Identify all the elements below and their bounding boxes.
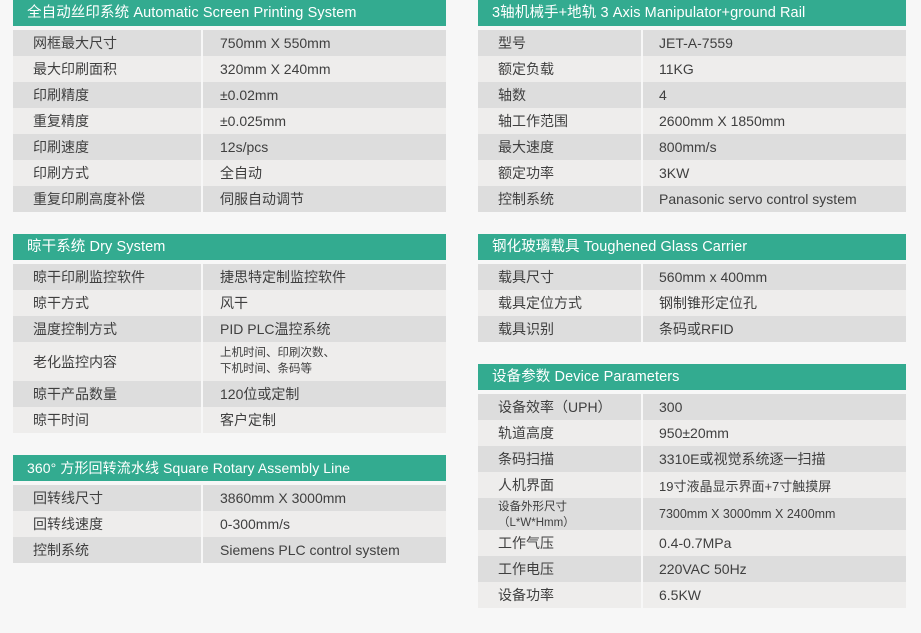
row-value: ±0.025mm bbox=[203, 108, 446, 134]
row-value: 120位或定制 bbox=[203, 381, 446, 407]
spec-table-dry-system: 晾干系统 Dry System 晾干印刷监控软件 捷思特定制监控软件 晾干方式 … bbox=[13, 234, 446, 433]
table-body: 载具尺寸 560mm x 400mm 载具定位方式 钢制锥形定位孔 载具识别 条… bbox=[478, 264, 906, 342]
table-row: 控制系统 Siemens PLC control system bbox=[13, 537, 446, 563]
row-value: 19寸液晶显示界面+7寸触摸屏 bbox=[643, 472, 906, 498]
row-value: 800mm/s bbox=[643, 134, 906, 160]
table-row: 条码扫描 3310E或视觉系统逐一扫描 bbox=[478, 446, 906, 472]
row-label: 控制系统 bbox=[13, 537, 203, 563]
table-row: 印刷速度 12s/pcs bbox=[13, 134, 446, 160]
row-label: 晾干方式 bbox=[13, 290, 203, 316]
row-label: 轴数 bbox=[478, 82, 643, 108]
row-label: 人机界面 bbox=[478, 472, 643, 498]
row-value: 3KW bbox=[643, 160, 906, 186]
row-label: 额定负载 bbox=[478, 56, 643, 82]
row-value: 风干 bbox=[203, 290, 446, 316]
row-label: 轴工作范围 bbox=[478, 108, 643, 134]
spec-table-screen-printing: 全自动丝印系统 Automatic Screen Printing System… bbox=[13, 0, 446, 212]
row-label: 最大印刷面积 bbox=[13, 56, 203, 82]
row-label: 晾干时间 bbox=[13, 407, 203, 433]
row-label: 晾干印刷监控软件 bbox=[13, 264, 203, 290]
table-body: 网框最大尺寸 750mm X 550mm 最大印刷面积 320mm X 240m… bbox=[13, 30, 446, 212]
row-value: ±0.02mm bbox=[203, 82, 446, 108]
row-label: 重复印刷高度补偿 bbox=[13, 186, 203, 212]
spec-table-manipulator: 3轴机械手+地轨 3 Axis Manipulator+ground Rail … bbox=[478, 0, 906, 212]
row-value: 钢制锥形定位孔 bbox=[643, 290, 906, 316]
row-label: 工作电压 bbox=[478, 556, 643, 582]
table-row: 老化监控内容 上机时间、印刷次数、 下机时间、条码等 bbox=[13, 342, 446, 381]
row-label: 轨道高度 bbox=[478, 420, 643, 446]
table-row: 晾干时间 客户定制 bbox=[13, 407, 446, 433]
table-row: 载具识别 条码或RFID bbox=[478, 316, 906, 342]
row-label: 载具识别 bbox=[478, 316, 643, 342]
row-value: 3310E或视觉系统逐一扫描 bbox=[643, 446, 906, 472]
left-column: 全自动丝印系统 Automatic Screen Printing System… bbox=[0, 0, 460, 633]
table-row: 重复精度 ±0.025mm bbox=[13, 108, 446, 134]
table-body: 型号 JET-A-7559 额定负载 11KG 轴数 4 轴工作范围 2600m… bbox=[478, 30, 906, 212]
table-row: 回转线尺寸 3860mm X 3000mm bbox=[13, 485, 446, 511]
row-value: 950±20mm bbox=[643, 420, 906, 446]
row-label: 载具定位方式 bbox=[478, 290, 643, 316]
table-row: 工作气压 0.4-0.7MPa bbox=[478, 530, 906, 556]
row-value: 3860mm X 3000mm bbox=[203, 485, 446, 511]
row-label: 温度控制方式 bbox=[13, 316, 203, 342]
row-label: 回转线速度 bbox=[13, 511, 203, 537]
table-row: 印刷方式 全自动 bbox=[13, 160, 446, 186]
table-row: 人机界面 19寸液晶显示界面+7寸触摸屏 bbox=[478, 472, 906, 498]
row-value: 0-300mm/s bbox=[203, 511, 446, 537]
table-header-title: 钢化玻璃载具 Toughened Glass Carrier bbox=[478, 234, 906, 260]
table-row: 载具尺寸 560mm x 400mm bbox=[478, 264, 906, 290]
row-value: Siemens PLC control system bbox=[203, 537, 446, 563]
table-row: 轨道高度 950±20mm bbox=[478, 420, 906, 446]
table-row: 最大印刷面积 320mm X 240mm bbox=[13, 56, 446, 82]
row-value: PID PLC温控系统 bbox=[203, 316, 446, 342]
table-header-title: 360° 方形回转流水线 Square Rotary Assembly Line bbox=[13, 455, 446, 481]
row-value: 560mm x 400mm bbox=[643, 264, 906, 290]
row-value: 0.4-0.7MPa bbox=[643, 530, 906, 556]
row-label: 网框最大尺寸 bbox=[13, 30, 203, 56]
table-row: 温度控制方式 PID PLC温控系统 bbox=[13, 316, 446, 342]
table-row: 型号 JET-A-7559 bbox=[478, 30, 906, 56]
row-label: 载具尺寸 bbox=[478, 264, 643, 290]
table-body: 回转线尺寸 3860mm X 3000mm 回转线速度 0-300mm/s 控制… bbox=[13, 485, 446, 563]
row-label: 设备外形尺寸（L*W*Hmm） bbox=[478, 498, 643, 530]
row-value: 750mm X 550mm bbox=[203, 30, 446, 56]
row-label: 设备功率 bbox=[478, 582, 643, 608]
spec-sheet-page: 全自动丝印系统 Automatic Screen Printing System… bbox=[0, 0, 921, 633]
row-label: 晾干产品数量 bbox=[13, 381, 203, 407]
table-row: 额定负载 11KG bbox=[478, 56, 906, 82]
table-row: 回转线速度 0-300mm/s bbox=[13, 511, 446, 537]
table-body: 晾干印刷监控软件 捷思特定制监控软件 晾干方式 风干 温度控制方式 PID PL… bbox=[13, 264, 446, 433]
table-row: 额定功率 3KW bbox=[478, 160, 906, 186]
row-label: 印刷方式 bbox=[13, 160, 203, 186]
row-label: 回转线尺寸 bbox=[13, 485, 203, 511]
row-label: 条码扫描 bbox=[478, 446, 643, 472]
row-value: 12s/pcs bbox=[203, 134, 446, 160]
table-row: 轴工作范围 2600mm X 1850mm bbox=[478, 108, 906, 134]
row-value: 220VAC 50Hz bbox=[643, 556, 906, 582]
row-value: 捷思特定制监控软件 bbox=[203, 264, 446, 290]
table-row: 载具定位方式 钢制锥形定位孔 bbox=[478, 290, 906, 316]
table-header-title: 3轴机械手+地轨 3 Axis Manipulator+ground Rail bbox=[478, 0, 906, 26]
row-value: 4 bbox=[643, 82, 906, 108]
row-value: 全自动 bbox=[203, 160, 446, 186]
table-row: 轴数 4 bbox=[478, 82, 906, 108]
table-row: 设备效率（UPH） 300 bbox=[478, 394, 906, 420]
table-header-title: 设备参数 Device Parameters bbox=[478, 364, 906, 390]
row-label: 设备效率（UPH） bbox=[478, 394, 643, 420]
table-row: 印刷精度 ±0.02mm bbox=[13, 82, 446, 108]
row-value: 7300mm X 3000mm X 2400mm bbox=[643, 498, 906, 530]
row-label: 型号 bbox=[478, 30, 643, 56]
row-label: 印刷精度 bbox=[13, 82, 203, 108]
table-row: 工作电压 220VAC 50Hz bbox=[478, 556, 906, 582]
row-label: 老化监控内容 bbox=[13, 342, 203, 381]
row-value-line-2: 下机时间、条码等 bbox=[220, 362, 440, 378]
row-value: JET-A-7559 bbox=[643, 30, 906, 56]
table-row: 晾干印刷监控软件 捷思特定制监控软件 bbox=[13, 264, 446, 290]
row-value: 2600mm X 1850mm bbox=[643, 108, 906, 134]
right-column: 3轴机械手+地轨 3 Axis Manipulator+ground Rail … bbox=[460, 0, 920, 633]
row-value: 客户定制 bbox=[203, 407, 446, 433]
table-row: 设备外形尺寸（L*W*Hmm） 7300mm X 3000mm X 2400mm bbox=[478, 498, 906, 530]
spec-table-rotary-assembly-line: 360° 方形回转流水线 Square Rotary Assembly Line… bbox=[13, 455, 446, 563]
row-label: 最大速度 bbox=[478, 134, 643, 160]
row-value: 11KG bbox=[643, 56, 906, 82]
row-value-line-1: 上机时间、印刷次数、 bbox=[220, 346, 440, 362]
row-label: 工作气压 bbox=[478, 530, 643, 556]
row-value: 300 bbox=[643, 394, 906, 420]
table-header-title: 晾干系统 Dry System bbox=[13, 234, 446, 260]
table-row: 晾干方式 风干 bbox=[13, 290, 446, 316]
table-row: 控制系统 Panasonic servo control system bbox=[478, 186, 906, 212]
row-value: 伺服自动调节 bbox=[203, 186, 446, 212]
table-row: 网框最大尺寸 750mm X 550mm bbox=[13, 30, 446, 56]
table-row: 设备功率 6.5KW bbox=[478, 582, 906, 608]
row-label: 重复精度 bbox=[13, 108, 203, 134]
spec-table-glass-carrier: 钢化玻璃载具 Toughened Glass Carrier 载具尺寸 560m… bbox=[478, 234, 906, 342]
row-value: 320mm X 240mm bbox=[203, 56, 446, 82]
table-row: 最大速度 800mm/s bbox=[478, 134, 906, 160]
row-value: Panasonic servo control system bbox=[643, 186, 906, 212]
table-header-title: 全自动丝印系统 Automatic Screen Printing System bbox=[13, 0, 446, 26]
table-row: 晾干产品数量 120位或定制 bbox=[13, 381, 446, 407]
row-value: 上机时间、印刷次数、 下机时间、条码等 bbox=[203, 342, 446, 381]
spec-table-device-parameters: 设备参数 Device Parameters 设备效率（UPH） 300 轨道高… bbox=[478, 364, 906, 608]
table-row: 重复印刷高度补偿 伺服自动调节 bbox=[13, 186, 446, 212]
row-label: 印刷速度 bbox=[13, 134, 203, 160]
table-body: 设备效率（UPH） 300 轨道高度 950±20mm 条码扫描 3310E或视… bbox=[478, 394, 906, 608]
row-label: 额定功率 bbox=[478, 160, 643, 186]
row-value: 条码或RFID bbox=[643, 316, 906, 342]
row-value: 6.5KW bbox=[643, 582, 906, 608]
row-label: 控制系统 bbox=[478, 186, 643, 212]
